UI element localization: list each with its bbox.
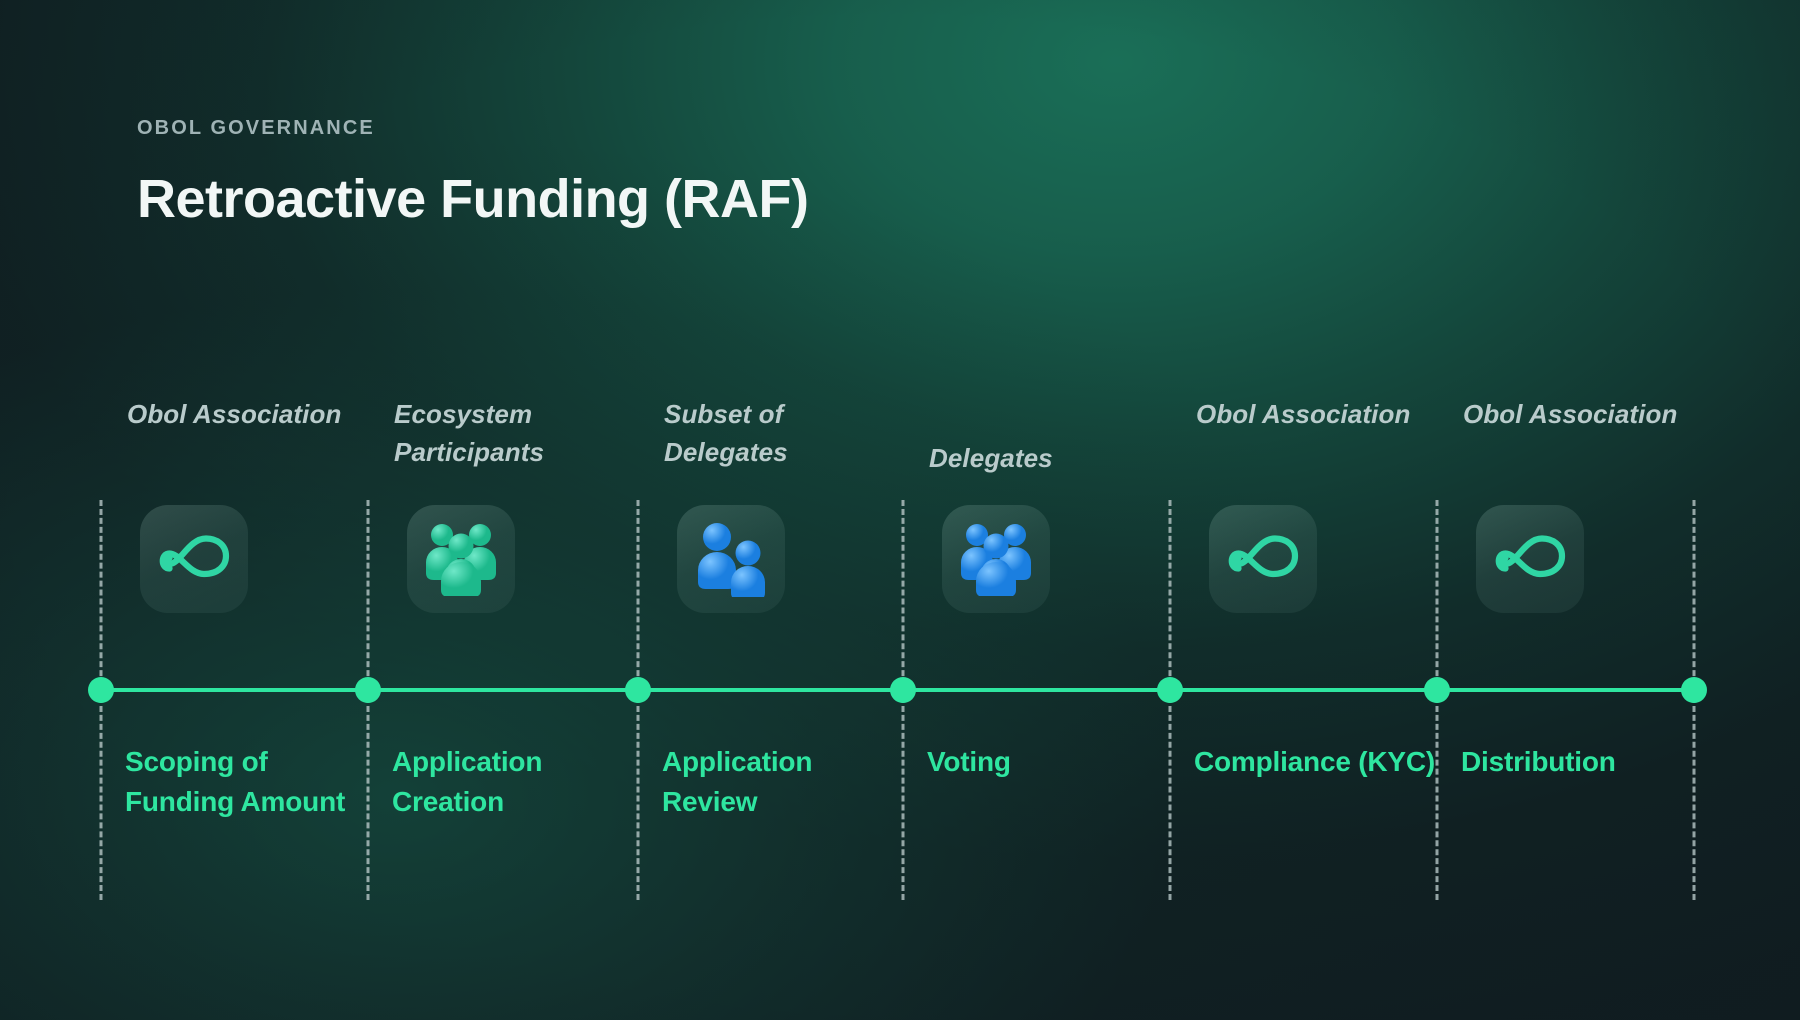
timeline-node[interactable] xyxy=(1157,677,1183,703)
people-group-tile[interactable] xyxy=(407,505,515,613)
obol-infinity-icon xyxy=(156,529,232,589)
step-label: Voting xyxy=(927,742,1172,782)
timeline-node[interactable] xyxy=(355,677,381,703)
step-role-label: Obol Association xyxy=(1196,395,1446,433)
step-role-label: Ecosystem Participants xyxy=(394,395,644,472)
timeline-node[interactable] xyxy=(890,677,916,703)
timeline: Obol AssociationScoping of Funding Amoun… xyxy=(0,0,1800,1020)
step-role-label: Delegates xyxy=(929,439,1179,477)
step-label: Compliance (KYC) xyxy=(1194,742,1439,782)
step-label: Application Creation xyxy=(392,742,637,822)
two-people-tile[interactable] xyxy=(677,505,785,613)
obol-infinity-icon xyxy=(1492,529,1568,589)
people-group-icon xyxy=(418,522,504,596)
step-label: Scoping of Funding Amount xyxy=(125,742,370,822)
obol-infinity-tile[interactable] xyxy=(140,505,248,613)
raf-timeline-graphic: OBOL GOVERNANCE Retroactive Funding (RAF… xyxy=(0,0,1800,1020)
timeline-node[interactable] xyxy=(625,677,651,703)
step-role-label: Obol Association xyxy=(1463,395,1713,433)
timeline-node[interactable] xyxy=(1681,677,1707,703)
timeline-node[interactable] xyxy=(1424,677,1450,703)
people-group-icon xyxy=(953,522,1039,596)
obol-infinity-icon xyxy=(1225,529,1301,589)
two-people-icon xyxy=(691,521,771,597)
step-role-label: Obol Association xyxy=(127,395,377,433)
step-label: Distribution xyxy=(1461,742,1706,782)
obol-infinity-tile[interactable] xyxy=(1209,505,1317,613)
obol-infinity-tile[interactable] xyxy=(1476,505,1584,613)
step-role-label: Subset of Delegates xyxy=(664,395,914,472)
timeline-node[interactable] xyxy=(88,677,114,703)
step-label: Application Review xyxy=(662,742,907,822)
people-group-tile[interactable] xyxy=(942,505,1050,613)
